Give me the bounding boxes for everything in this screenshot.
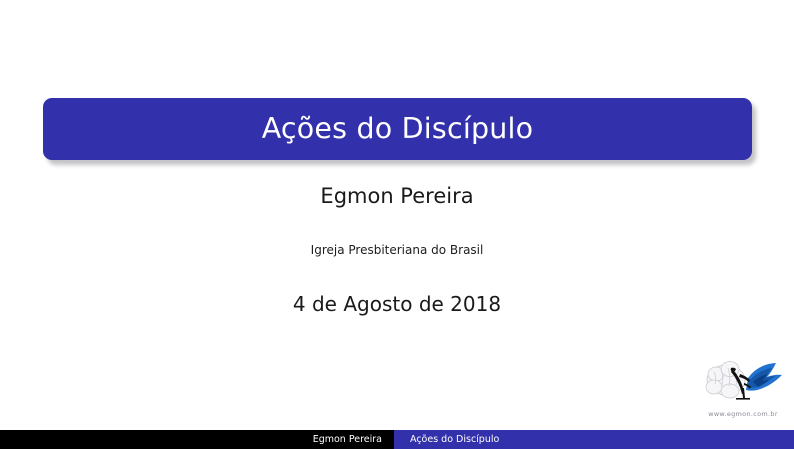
institute-name: Igreja Presbiteriana do Brasil — [0, 244, 794, 256]
page-title: Ações do Discípulo — [262, 115, 534, 144]
footer-author-section[interactable]: Egmon Pereira — [0, 430, 394, 449]
brand-logo: www.egmon.com.br — [700, 358, 786, 418]
egmon-lamb-wing-logo-icon — [700, 358, 786, 403]
title-block-panel: Ações do Discípulo — [43, 98, 752, 160]
footer-title-section[interactable]: Ações do Discípulo — [394, 430, 794, 449]
title-metadata: Egmon Pereira Igreja Presbiteriana do Br… — [0, 186, 794, 314]
footer-bar: Egmon Pereira Ações do Discípulo — [0, 430, 794, 449]
footer-title-label: Ações do Discípulo — [410, 435, 499, 445]
presentation-title-slide: Ações do Discípulo Egmon Pereira Igreja … — [0, 0, 794, 449]
title-block: Ações do Discípulo — [43, 98, 752, 160]
presentation-date: 4 de Agosto de 2018 — [0, 294, 794, 314]
author-name: Egmon Pereira — [0, 186, 794, 207]
footer-author-label: Egmon Pereira — [313, 435, 382, 445]
logo-url-text: www.egmon.com.br — [700, 410, 786, 418]
